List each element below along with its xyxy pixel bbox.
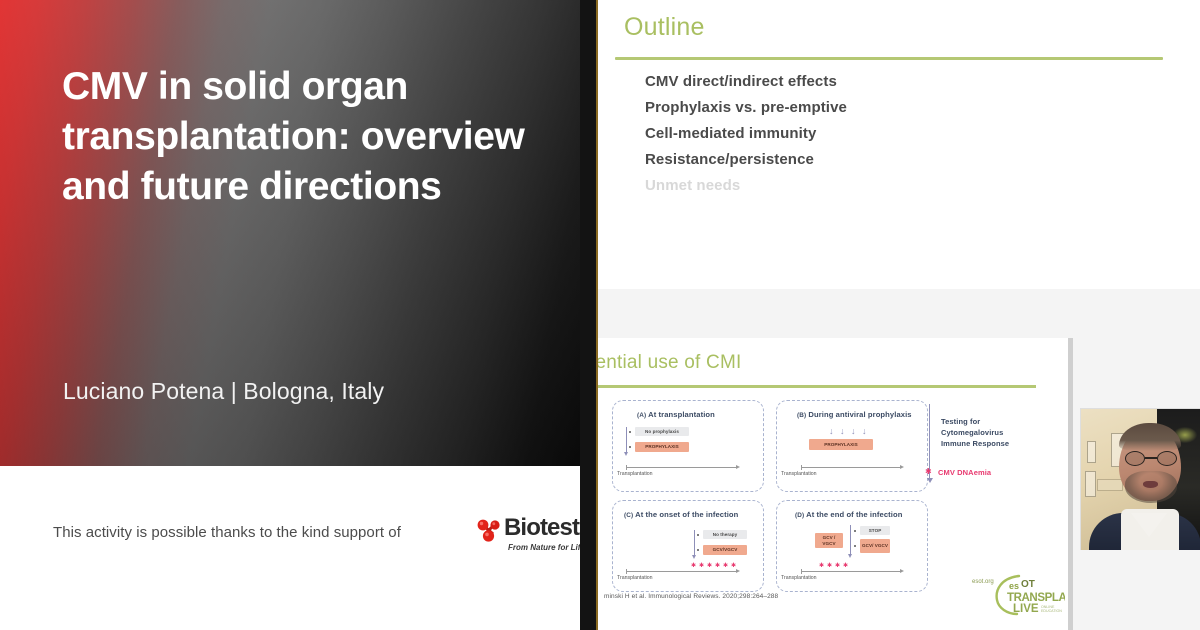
panel-a-connector-arrow	[624, 452, 628, 456]
panel-c-timeline-caption: Transplantation	[617, 575, 653, 581]
panel-a-label: (A) At transplantation	[637, 410, 715, 419]
panel-a-title: At transplantation	[648, 410, 715, 419]
panel-d-timeline-arrow	[900, 569, 904, 573]
panel-c-timeline-tick	[626, 569, 627, 574]
biotest-molecule-icon	[476, 518, 502, 542]
testing-annotation-line-2: Immune Response	[941, 439, 1051, 450]
diagram-panel-c: (C) At the onset of the infection No the…	[612, 500, 764, 592]
diagram-panel-a: (A) At transplantation No prophylaxis PR…	[612, 400, 764, 492]
panel-c-connector	[694, 530, 695, 556]
panel-d-connector	[850, 525, 851, 555]
panel-d-title: At the end of the infection	[806, 510, 902, 519]
panel-c-box-0: No therapy	[703, 530, 747, 539]
svg-text:EDUCATION: EDUCATION	[1041, 609, 1062, 613]
glasses-left-lens	[1125, 451, 1145, 466]
diagram-panel-d: (D) At the end of the infection GCV / VG…	[776, 500, 928, 592]
dnaemia-star: ✱	[723, 563, 728, 569]
glasses-bridge	[1145, 457, 1157, 459]
panel-c-box-1: GCV/VGCV	[703, 545, 747, 555]
testing-annotation: Testing for Cytomegalovirus Immune Respo…	[941, 417, 1051, 450]
biotest-tagline: From Nature for Life	[508, 543, 580, 552]
slide-citation: minski H et al. Immunological Reviews. 2…	[604, 593, 778, 600]
prophylaxis-arrow: ↓	[851, 427, 856, 436]
outline-item-3: Resistance/persistence	[645, 147, 1165, 173]
dnaemia-star: ✱	[731, 563, 736, 569]
slide-outline[interactable]: Outline CMV direct/indirect effects Prop…	[598, 0, 1200, 289]
panel-d-box-2: GCV/ VGCV	[860, 539, 890, 553]
page-title: CMV in solid organ transplantation: over…	[62, 62, 552, 212]
testing-annotation-line-1: Cytomegalovirus	[941, 428, 1051, 439]
panel-a-timeline-caption: Transplantation	[617, 471, 653, 477]
panel-a-timeline-arrow	[736, 465, 740, 469]
bullet-dot	[697, 549, 699, 551]
panel-divider-strip	[580, 0, 597, 630]
panel-d-marker: (D)	[795, 512, 804, 519]
dnaemia-star: ✱	[819, 563, 824, 569]
outline-item-2: Cell-mediated immunity	[645, 121, 1165, 147]
panel-a-timeline	[626, 467, 736, 468]
testing-arrow-head	[927, 478, 933, 483]
cmi-title-rule	[598, 385, 1036, 388]
webcam-wall-frame	[1097, 479, 1123, 491]
panel-d-box-1: STOP	[860, 526, 890, 535]
diagram-panel-b: (B) During antiviral prophylaxis ↓ ↓ ↓ ↓…	[776, 400, 928, 492]
hero-gradient-banner: CMV in solid organ transplantation: over…	[0, 0, 580, 466]
panel-b-marker: (B)	[797, 412, 806, 419]
dnaemia-star: ✱	[715, 563, 720, 569]
webcam-wall-frame	[1085, 471, 1096, 497]
bullet-dot	[629, 446, 631, 448]
panel-b-timeline-tick	[801, 465, 802, 470]
panel-a-box-1: PROPHYLAXIS	[635, 442, 689, 452]
bullet-dot	[697, 534, 699, 536]
dnaemia-star: ✱	[827, 563, 832, 569]
panel-b-title: During antiviral prophylaxis	[808, 410, 911, 419]
panel-c-title: At the onset of the infection	[635, 510, 738, 519]
dnaemia-star: ✱	[691, 563, 696, 569]
panel-d-timeline-caption: Transplantation	[781, 575, 817, 581]
prophylaxis-arrow: ↓	[840, 427, 845, 436]
svg-text:es: es	[1009, 581, 1019, 591]
dnaemia-legend-label: CMV DNAemia	[938, 468, 991, 477]
cmi-slide-title: tential use of CMI	[598, 352, 741, 374]
webcam-person-mouth	[1143, 481, 1158, 488]
presentation-screenshot: CMV in solid organ transplantation: over…	[0, 0, 1200, 630]
panel-b-box-0: PROPHYLAXIS	[809, 439, 873, 450]
panel-c-timeline-arrow	[736, 569, 740, 573]
bullet-dot	[854, 545, 856, 547]
panel-c-timeline	[626, 571, 736, 572]
panel-c-marker: (C)	[624, 512, 633, 519]
panel-d-timeline-tick	[801, 569, 802, 574]
panel-b-timeline-arrow	[900, 465, 904, 469]
webcam-wall-frame	[1087, 441, 1096, 463]
panel-d-timeline	[801, 571, 900, 572]
dnaemia-star: ✱	[843, 563, 848, 569]
panel-a-timeline-tick	[626, 465, 627, 470]
panel-d-connector-arrow	[848, 554, 852, 558]
panel-d-box-0: GCV / VGCV	[815, 533, 843, 548]
prophylaxis-arrow: ↓	[862, 427, 867, 436]
outline-item-4: Unmet needs	[645, 173, 1165, 199]
sponsor-text: This activity is possible thanks to the …	[53, 524, 401, 541]
slide-scrollbar[interactable]	[1068, 338, 1073, 630]
biotest-logo: Biotest From Nature for Life	[476, 516, 580, 562]
bullet-dot	[854, 530, 856, 532]
svg-text:OT: OT	[1021, 579, 1035, 590]
panel-d-label: (D) At the end of the infection	[795, 510, 902, 519]
dnaemia-star: ✱	[707, 563, 712, 569]
dnaemia-star: ✱	[699, 563, 704, 569]
svg-text:LIVE: LIVE	[1013, 603, 1039, 615]
outline-list: CMV direct/indirect effects Prophylaxis …	[645, 69, 1165, 199]
panel-b-timeline	[801, 467, 900, 468]
outline-slide-title: Outline	[624, 13, 705, 42]
slides-gap-band	[598, 289, 1200, 338]
panel-c-connector-arrow	[692, 555, 696, 559]
outline-item-1: Prophylaxis vs. pre-emptive	[645, 95, 1165, 121]
biotest-wordmark: Biotest	[504, 516, 579, 540]
prophylaxis-arrow: ↓	[829, 427, 834, 436]
speaker-webcam-inset[interactable]	[1080, 408, 1200, 550]
glasses-right-lens	[1157, 451, 1177, 466]
glasses-icon	[1125, 451, 1177, 466]
speaker-byline: Luciano Potena | Bologna, Italy	[63, 378, 384, 405]
panel-c-label: (C) At the onset of the infection	[624, 510, 738, 519]
panel-b-timeline-caption: Transplantation	[781, 471, 817, 477]
panel-a-marker: (A)	[637, 412, 646, 419]
outline-title-rule	[615, 57, 1163, 60]
panel-a-connector	[626, 427, 627, 453]
panel-b-label: (B) During antiviral prophylaxis	[797, 410, 912, 419]
bullet-dot	[629, 431, 631, 433]
testing-annotation-line-0: Testing for	[941, 417, 1051, 428]
panel-a-box-0: No prophylaxis	[635, 427, 689, 436]
outline-item-0: CMV direct/indirect effects	[645, 69, 1165, 95]
esot-transplant-live-logo: es OT TRANSPLANT LIVE ONLINE EDUCATION	[989, 572, 1065, 616]
dnaemia-legend-star: ✱	[925, 468, 932, 476]
dnaemia-star: ✱	[835, 563, 840, 569]
left-title-panel: CMV in solid organ transplantation: over…	[0, 0, 580, 630]
